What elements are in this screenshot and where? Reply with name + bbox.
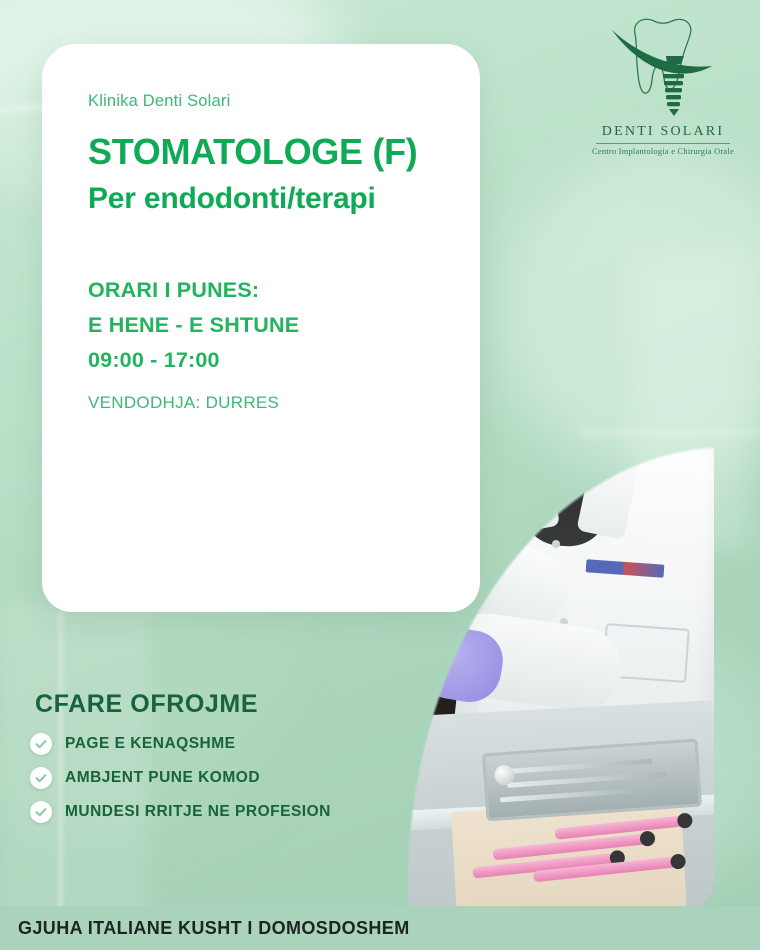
- clinic-logo: DENTI SOLARI Centro Implantologia e Chir…: [588, 8, 738, 156]
- working-time: 09:00 - 17:00: [88, 343, 446, 378]
- lab-coat-button: [544, 478, 552, 486]
- working-hours-label: ORARI I PUNES:: [88, 273, 446, 308]
- check-circle-icon: [30, 733, 52, 755]
- requirement-text: GJUHA ITALIANE KUSHT I DOMOSDOSHEM: [18, 918, 410, 939]
- tooth-implant-icon: [588, 8, 738, 128]
- requirement-banner: GJUHA ITALIANE KUSHT I DOMOSDOSHEM: [0, 906, 760, 950]
- working-hours-block: ORARI I PUNES: E HENE - E SHTUNE 09:00 -…: [88, 273, 446, 377]
- metal-instrument: [500, 788, 640, 803]
- offer-label: AMBJENT PUNE KOMOD: [65, 769, 260, 787]
- logo-tagline: Centro Implantologia e Chirurgia Orale: [588, 147, 738, 156]
- offer-item: PAGE E KENAQSHME: [30, 733, 370, 755]
- job-title: STOMATOLOGE (F): [88, 133, 446, 172]
- logo-name: DENTI SOLARI: [588, 124, 738, 140]
- job-info-card: Klinika Denti Solari STOMATOLOGE (F) Per…: [42, 44, 480, 612]
- check-circle-icon: [30, 767, 52, 789]
- offers-title: CFARE OFROJME: [35, 690, 370, 719]
- offer-label: MUNDESI RRITJE NE PROFESION: [65, 803, 331, 821]
- offer-label: PAGE E KENAQSHME: [65, 735, 236, 753]
- offer-item: AMBJENT PUNE KOMOD: [30, 767, 370, 789]
- clinic-name: Klinika Denti Solari: [88, 92, 446, 111]
- offer-item: MUNDESI RRITJE NE PROFESION: [30, 801, 370, 823]
- metal-instrument: [502, 759, 652, 774]
- check-circle-icon: [30, 801, 52, 823]
- mask-fold: [509, 396, 625, 407]
- job-specialty: Per endodonti/terapi: [88, 182, 446, 215]
- mask-fold: [510, 416, 626, 427]
- job-poster: Klinika Denti Solari STOMATOLOGE (F) Per…: [0, 0, 760, 950]
- working-days: E HENE - E SHTUNE: [88, 308, 446, 343]
- metal-instrument: [507, 772, 667, 788]
- lab-coat-button: [552, 540, 560, 548]
- logo-divider: [596, 143, 730, 144]
- job-location: VENDODHJA: DURRES: [88, 393, 446, 413]
- offers-section: CFARE OFROJME PAGE E KENAQSHME AMBJENT P…: [30, 690, 370, 835]
